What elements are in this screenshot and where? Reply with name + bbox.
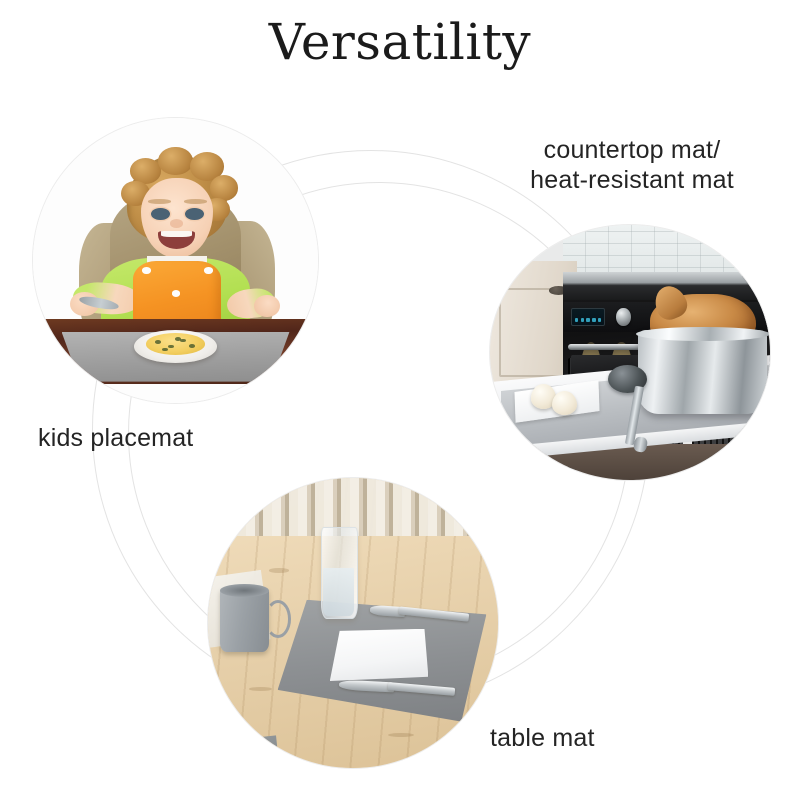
pot-rim (636, 327, 770, 341)
soup-pea (189, 344, 195, 348)
egg (552, 391, 577, 415)
label-table-mat: table mat (490, 724, 595, 754)
countertop-mat-scene (490, 225, 770, 480)
white-square-plate (330, 629, 429, 681)
bib-snap (172, 290, 181, 296)
baby-hand-right (254, 295, 280, 318)
table-mat-scene (208, 478, 498, 768)
oven-knob[interactable] (616, 308, 631, 326)
soup-pea (155, 340, 161, 344)
gray-mug (220, 588, 269, 652)
label-countertop-mat: countertop mat/ heat-resistant mat (482, 136, 782, 195)
soup-pea (168, 345, 174, 349)
baby-eye-left (151, 208, 170, 220)
page-title: Versatility (0, 16, 800, 69)
baby-nose (170, 219, 183, 228)
photo-circle-countertop-mat[interactable] (490, 225, 770, 480)
infographic-canvas: Versatility (0, 0, 800, 800)
baby-teeth (161, 231, 192, 237)
baby-eyebrow-right (184, 199, 207, 204)
oven-display (571, 308, 605, 327)
soup-pea (175, 337, 181, 341)
bib-snap (204, 267, 213, 273)
label-kids-placemat: kids placemat (38, 424, 193, 454)
hair-curl (130, 158, 161, 184)
wood-grain-knot (249, 687, 272, 691)
stainless-steel-pot (638, 330, 767, 414)
hair-curl (210, 175, 239, 201)
baby-eyebrow-left (148, 199, 171, 204)
soup-pea (162, 348, 168, 352)
kids-placemat-scene (33, 118, 318, 403)
photo-circle-table-mat[interactable] (208, 478, 498, 768)
water-in-glass (323, 568, 354, 616)
bib-snap (142, 267, 151, 273)
hair-curl (158, 147, 192, 176)
photo-circle-kids-placemat[interactable] (33, 118, 318, 403)
soup-pea (180, 339, 186, 343)
wood-grain-knot (269, 568, 289, 573)
mug-opening (220, 584, 269, 597)
baby-eye-right (185, 208, 204, 220)
cabinet-panel (499, 288, 569, 378)
